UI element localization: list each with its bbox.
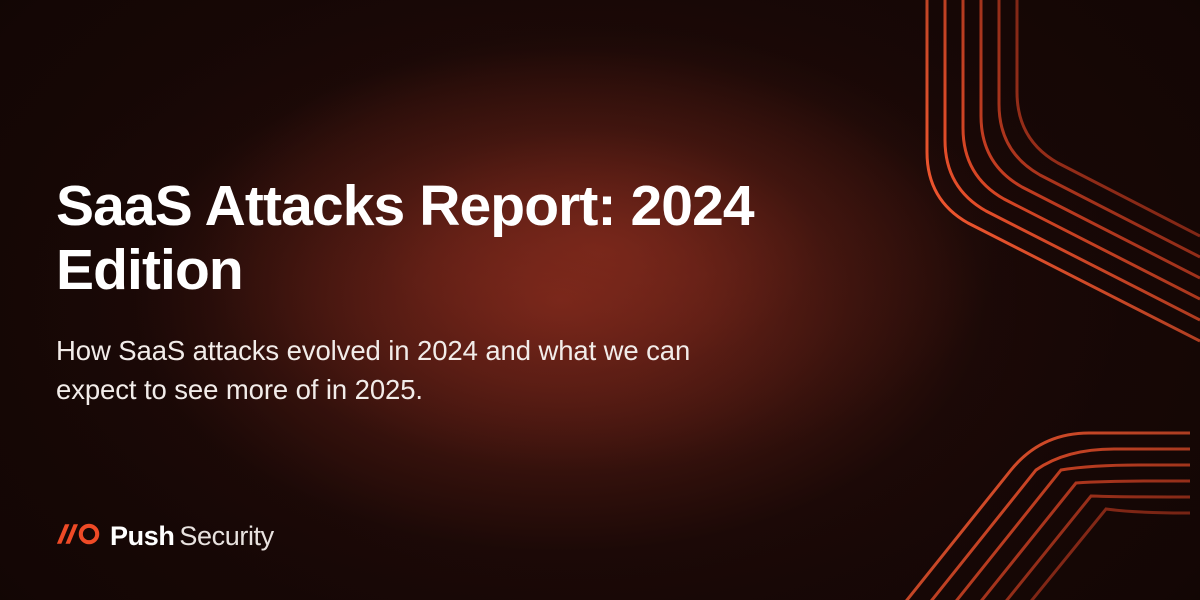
bottom-right-curve-group xyxy=(903,433,1190,600)
page-subtitle: How SaaS attacks evolved in 2024 and wha… xyxy=(56,331,866,409)
banner-content: SaaS Attacks Report: 2024 Edition How Sa… xyxy=(56,0,876,600)
push-security-logo-icon xyxy=(56,521,100,552)
top-right-curve-group xyxy=(927,0,1200,341)
brand-logo: PushSecurity xyxy=(56,519,274,553)
brand-name-light: Security xyxy=(179,521,273,551)
page-title: SaaS Attacks Report: 2024 Edition xyxy=(56,174,866,303)
brand-wordmark: PushSecurity xyxy=(110,523,274,550)
brand-name-bold: Push xyxy=(110,521,174,551)
banner-root: SaaS Attacks Report: 2024 Edition How Sa… xyxy=(0,0,1200,600)
